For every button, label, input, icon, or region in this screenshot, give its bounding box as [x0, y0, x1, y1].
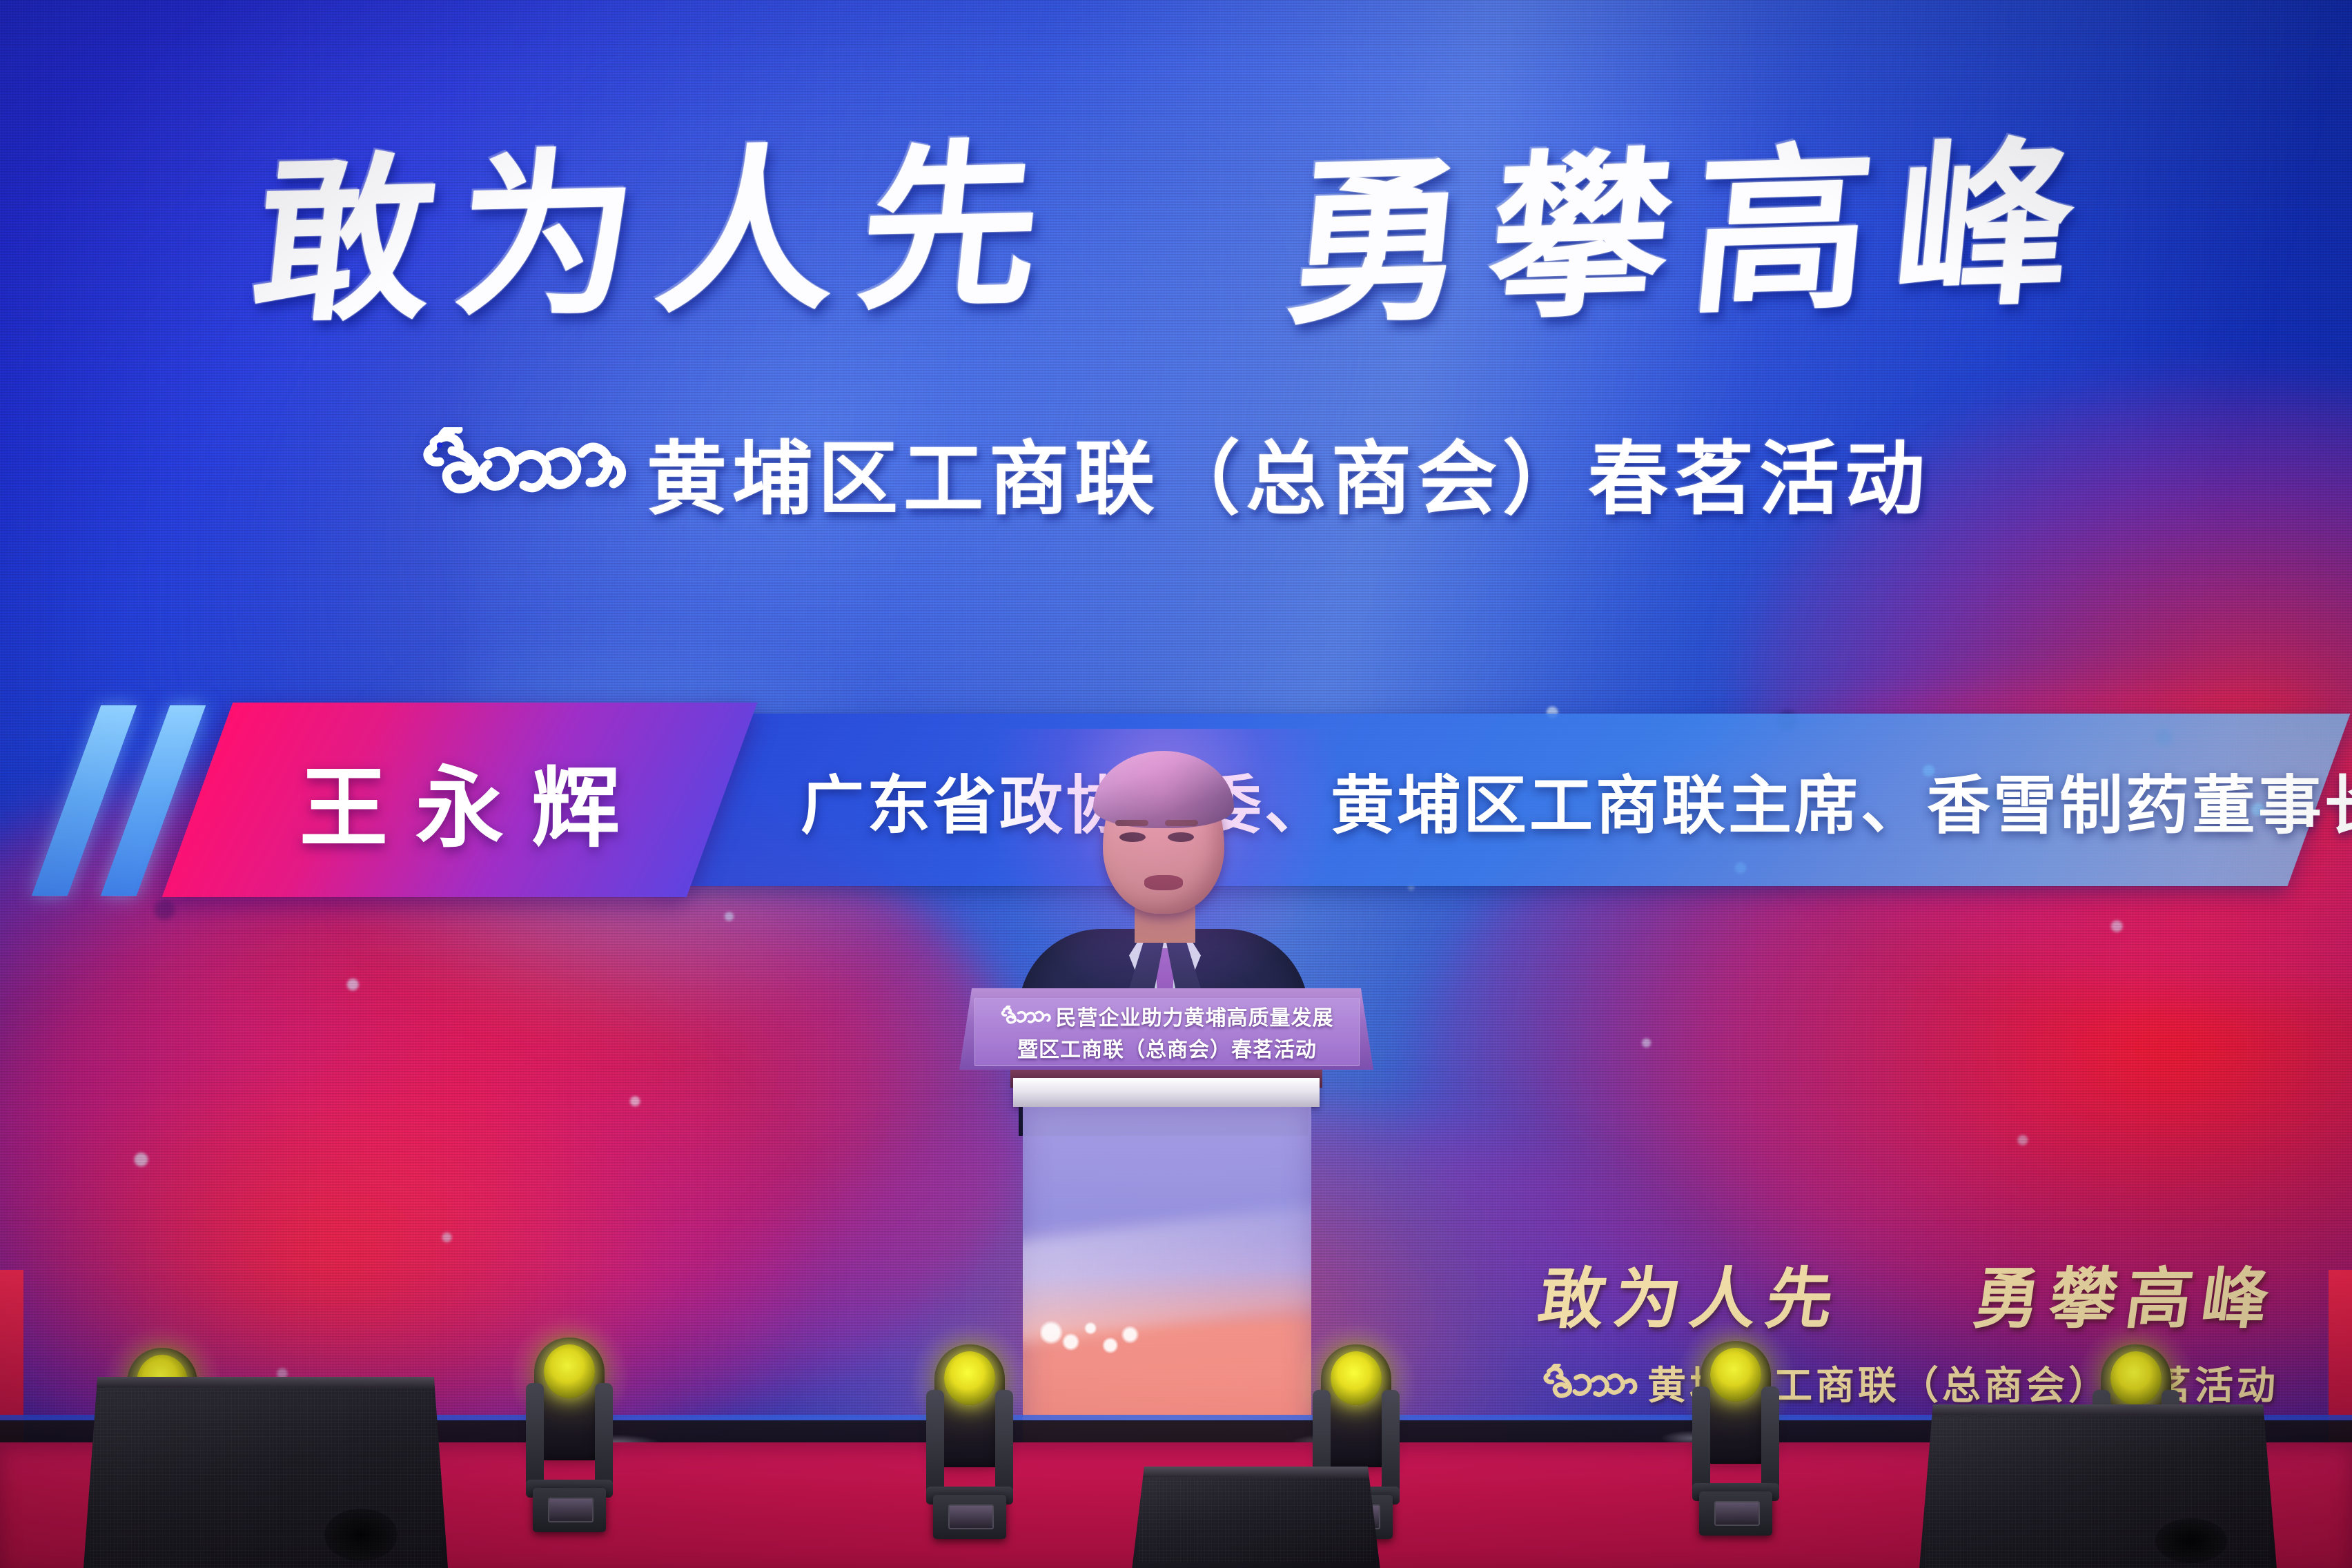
moving-head-light-3 — [911, 1332, 1028, 1539]
lamp-yoke-left-2 — [526, 1383, 544, 1493]
speaker-name-text: 王永辉 — [272, 736, 647, 864]
stage-monitor-right — [1919, 1404, 2277, 1568]
monitor-port-right — [2155, 1518, 2227, 1563]
lamp-lens-icon-4 — [1331, 1351, 1382, 1405]
lamp-display-3 — [948, 1505, 994, 1529]
monitor-top-edge-left — [83, 1377, 449, 1388]
podium-face-sparkles — [1040, 1315, 1150, 1358]
podium-sign-board: 民营企业助力黄埔高质量发展 暨区工商联（总商会）春茗活动 — [974, 998, 1360, 1066]
podium-illuminated-face — [1023, 1107, 1311, 1466]
dragon-2024-logo-icon-podium — [1001, 1006, 1052, 1026]
speaker-eyebrow-left — [1115, 820, 1148, 826]
lamp-base-3 — [933, 1495, 1006, 1539]
lamp-head-5 — [1701, 1341, 1771, 1464]
speaker-name-plate: 王永辉 — [162, 703, 758, 897]
lamp-lens-icon-6 — [2110, 1351, 2162, 1405]
lamp-yoke-left-5 — [1692, 1386, 1710, 1497]
speaker-hair — [1093, 751, 1234, 828]
podium-sign-line-1: 民营企业助力黄埔高质量发展 — [1056, 1001, 1334, 1031]
podium-sign-line-2: 暨区工商联（总商会）春茗活动 — [1017, 1032, 1317, 1063]
stage-photo: 敢为人先 勇攀高峰 黄埔区工商联（总商会） — [0, 0, 2352, 1568]
moving-head-light-5 — [1677, 1329, 1794, 1536]
lamp-yoke-right-5 — [1761, 1386, 1779, 1497]
stage-monitor-left — [83, 1377, 449, 1568]
podium-trim-top — [1013, 1078, 1320, 1107]
podium-sign-line-2-row: 暨区工商联（总商会）春茗活动 — [1017, 1032, 1317, 1063]
lamp-yoke-right-2 — [595, 1383, 613, 1493]
lamp-yoke-right-3 — [995, 1390, 1013, 1500]
lamp-head-2 — [534, 1337, 605, 1460]
speaker-eye-right — [1168, 832, 1194, 842]
podium-sign-line-1-row: 民营企业助力黄埔高质量发展 — [1001, 1001, 1334, 1031]
speaker-eye-left — [1119, 832, 1146, 842]
lamp-head-4 — [1321, 1344, 1391, 1467]
lamp-base-2 — [533, 1488, 606, 1532]
lamp-yoke-right-4 — [1382, 1390, 1400, 1500]
lamp-lens-icon-5 — [1710, 1348, 1761, 1402]
lamp-lens-icon-3 — [944, 1351, 995, 1405]
monitor-port-left — [324, 1509, 398, 1560]
lamp-head-3 — [934, 1344, 1005, 1467]
speaker-title-plate: 广东省政协常委、黄埔区工商联主席、香雪制药董事长 — [666, 714, 2351, 886]
monitor-top-edge-center — [1132, 1467, 1380, 1478]
lamp-display-2 — [548, 1498, 594, 1522]
lamp-yoke-left-3 — [926, 1390, 944, 1500]
monitor-top-edge-right — [1919, 1404, 2277, 1415]
stage-monitor-center — [1132, 1467, 1380, 1568]
speaker-mouth — [1144, 875, 1183, 890]
lamp-display-5 — [1714, 1501, 1760, 1526]
lamp-lens-icon-2 — [544, 1344, 595, 1398]
lamp-base-5 — [1699, 1491, 1772, 1536]
speaker-eyebrow-right — [1165, 820, 1198, 826]
moving-head-light-2 — [511, 1325, 628, 1532]
monitor-grill-center — [1139, 1478, 1373, 1563]
